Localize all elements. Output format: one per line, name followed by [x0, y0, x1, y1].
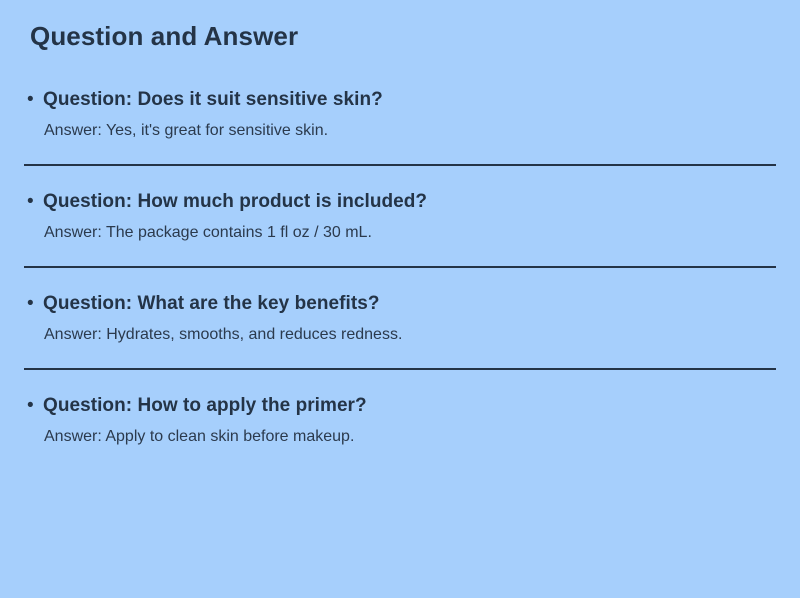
- bullet-icon: •: [27, 84, 43, 116]
- spacer: [0, 166, 800, 186]
- spacer: [0, 268, 800, 288]
- qa-item: • Question: Does it suit sensitive skin?…: [0, 84, 800, 146]
- qa-item: • Question: How to apply the primer? Ans…: [0, 390, 800, 452]
- qa-panel: Question and Answer • Question: Does it …: [0, 0, 800, 598]
- qa-question-text: Question: How to apply the primer?: [43, 390, 776, 422]
- qa-item: • Question: How much product is included…: [0, 186, 800, 248]
- qa-list: • Question: Does it suit sensitive skin?…: [0, 84, 800, 452]
- qa-answer-text: Answer: Hydrates, smooths, and reduces r…: [44, 320, 776, 350]
- qa-answer-text: Answer: Yes, it's great for sensitive sk…: [44, 116, 776, 146]
- spacer: [0, 370, 800, 390]
- page-title: Question and Answer: [30, 19, 298, 53]
- spacer: [0, 146, 800, 164]
- bullet-icon: •: [27, 390, 43, 422]
- qa-answer-text: Answer: The package contains 1 fl oz / 3…: [44, 218, 776, 248]
- qa-question-text: Question: What are the key benefits?: [43, 288, 776, 320]
- qa-question-row: • Question: What are the key benefits?: [24, 288, 776, 320]
- qa-question-row: • Question: Does it suit sensitive skin?: [24, 84, 776, 116]
- qa-answer-text: Answer: Apply to clean skin before makeu…: [44, 422, 776, 452]
- bullet-icon: •: [27, 288, 43, 320]
- qa-question-text: Question: How much product is included?: [43, 186, 776, 218]
- bullet-icon: •: [27, 186, 43, 218]
- spacer: [0, 350, 800, 368]
- qa-question-row: • Question: How to apply the primer?: [24, 390, 776, 422]
- qa-question-row: • Question: How much product is included…: [24, 186, 776, 218]
- qa-item: • Question: What are the key benefits? A…: [0, 288, 800, 350]
- spacer: [0, 248, 800, 266]
- qa-question-text: Question: Does it suit sensitive skin?: [43, 84, 776, 116]
